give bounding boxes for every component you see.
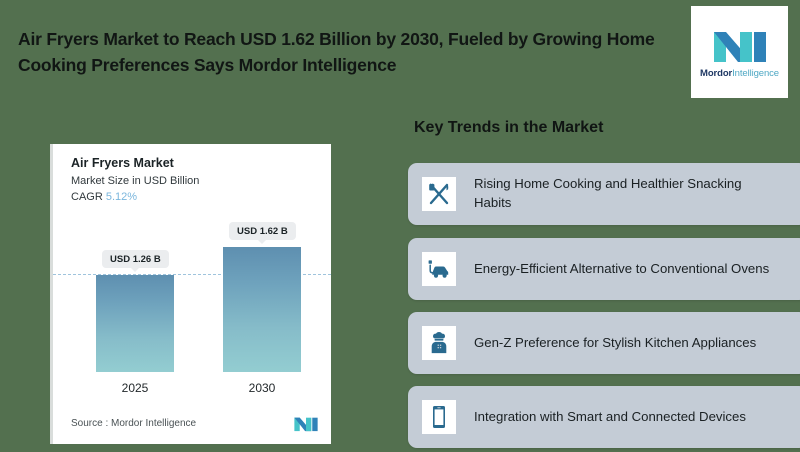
trend-label-4: Integration with Smart and Connected Dev… bbox=[474, 408, 746, 427]
bar-2030 bbox=[223, 247, 301, 372]
trend-card-3[interactable]: Gen-Z Preference for Stylish Kitchen App… bbox=[408, 312, 800, 374]
chart-footer: Source : Mordor Intelligence bbox=[71, 415, 319, 432]
electric-car-icon bbox=[422, 252, 456, 286]
key-trends-title: Key Trends in the Market bbox=[414, 119, 603, 137]
bar-2025 bbox=[96, 275, 174, 372]
trend-label-1: Rising Home Cooking and Healthier Snacki… bbox=[474, 175, 774, 212]
chart-subtitle: Market Size in USD Billion bbox=[71, 175, 199, 187]
trend-card-1[interactable]: Rising Home Cooking and Healthier Snacki… bbox=[408, 163, 800, 225]
brand-word-intelligence: Intelligence bbox=[732, 68, 779, 79]
cagr-label: CAGR bbox=[71, 191, 103, 203]
trend-card-2[interactable]: Energy-Efficient Alternative to Conventi… bbox=[408, 238, 800, 300]
data-label-2030: USD 1.62 B bbox=[229, 222, 296, 240]
brand-wordmark: MordorIntelligence bbox=[700, 68, 779, 79]
mordor-logo-mark bbox=[712, 26, 768, 64]
cagr-value: 5.12% bbox=[106, 191, 137, 203]
trend-card-4[interactable]: Integration with Smart and Connected Dev… bbox=[408, 386, 800, 448]
chart-cagr: CAGR 5.12% bbox=[71, 191, 137, 203]
chart-plot-area: USD 1.26 B USD 1.62 B 2025 2030 bbox=[71, 214, 323, 396]
market-chart-card: Air Fryers Market Market Size in USD Bil… bbox=[50, 144, 331, 444]
fork-knife-icon bbox=[422, 177, 456, 211]
chart-source-text: Source : Mordor Intelligence bbox=[71, 418, 196, 429]
brand-word-mordor: Mordor bbox=[700, 68, 732, 79]
chart-title: Air Fryers Market bbox=[71, 156, 174, 170]
page-headline: Air Fryers Market to Reach USD 1.62 Bill… bbox=[18, 26, 658, 79]
x-axis-label-2030: 2030 bbox=[223, 381, 301, 395]
trend-label-2: Energy-Efficient Alternative to Conventi… bbox=[474, 260, 769, 279]
mordor-intelligence-logo: MordorIntelligence bbox=[691, 6, 788, 98]
smartphone-icon bbox=[422, 400, 456, 434]
trend-label-3: Gen-Z Preference for Stylish Kitchen App… bbox=[474, 334, 756, 353]
chef-icon bbox=[422, 326, 456, 360]
x-axis-label-2025: 2025 bbox=[96, 381, 174, 395]
data-label-2025: USD 1.26 B bbox=[102, 250, 169, 268]
mordor-logo-mark-small bbox=[293, 415, 319, 432]
